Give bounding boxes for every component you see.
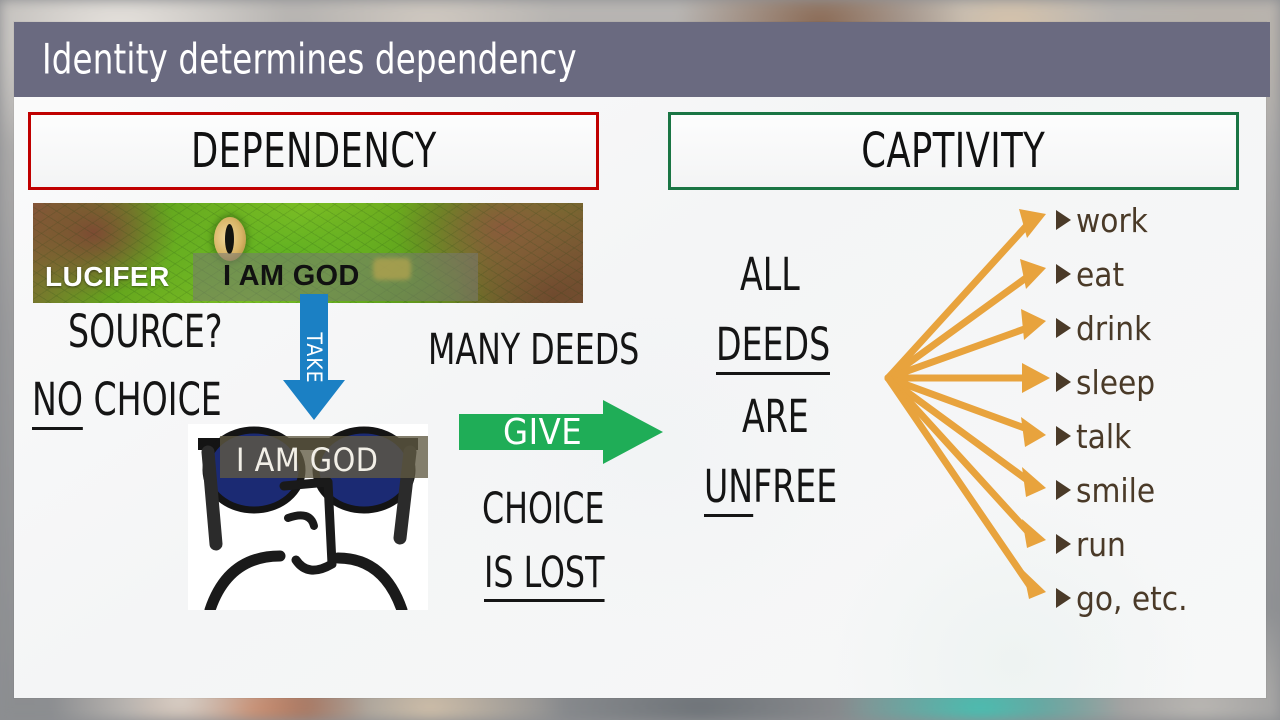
list-item[interactable]: eat [1056, 247, 1256, 301]
choice-text: CHOICE [482, 484, 631, 534]
unfree-rest: FREE [753, 460, 837, 513]
list-item-label: sleep [1076, 363, 1155, 402]
snake-i-am-god-label: I AM GOD [223, 260, 360, 293]
slide-root: Identity determines dependency DEPENDENC… [0, 0, 1280, 720]
unfree-text: UNFREE [704, 460, 867, 513]
triangle-bullet-icon [1056, 264, 1071, 284]
captivity-heading-box: CAPTIVITY [668, 112, 1239, 190]
list-item-label: smile [1076, 471, 1155, 510]
page-title: Identity determines dependency [42, 34, 664, 83]
is-lost-label: IS LOST [484, 548, 604, 602]
list-item[interactable]: drink [1056, 301, 1256, 355]
list-item-label: drink [1076, 309, 1151, 348]
page-title-text: Identity determines dependency [42, 34, 577, 83]
dependency-heading-label: DEPENDENCY [191, 123, 437, 179]
list-item-label: eat [1076, 255, 1124, 294]
give-arrow-label: GIVE [503, 412, 582, 453]
list-item-label: run [1076, 525, 1126, 564]
no-choice-underlined-part: NO [32, 373, 83, 430]
title-banner: Identity determines dependency [14, 22, 1270, 97]
list-item[interactable]: talk [1056, 409, 1256, 463]
triangle-bullet-icon [1056, 480, 1071, 500]
is-lost-text: IS LOST [484, 548, 631, 602]
are-text: ARE [742, 390, 823, 443]
figure-i-am-god-caption: I AM GOD [236, 441, 378, 479]
source-question-text: SOURCE? [68, 305, 256, 358]
triangle-bullet-icon [1056, 372, 1071, 392]
snake-image: LUCIFER I AM GOD [33, 203, 583, 303]
snake-pupil [225, 224, 234, 254]
list-item-label: work [1076, 201, 1148, 240]
list-item[interactable]: go, etc. [1056, 571, 1256, 625]
radiating-arrows-fan [880, 190, 1060, 610]
take-arrow-label: TAKE [302, 332, 326, 383]
list-item[interactable]: work [1056, 193, 1256, 247]
unfree-underlined-part: UN [704, 460, 753, 517]
are-label: ARE [742, 390, 809, 443]
triangle-bullet-icon [1056, 318, 1071, 338]
captivity-list: work eat drink sleep talk smile run go, [1056, 193, 1256, 625]
triangle-bullet-icon [1056, 588, 1071, 608]
list-item-label: go, etc. [1076, 579, 1188, 618]
dependency-heading-box: DEPENDENCY [28, 112, 599, 190]
figure-with-sunglasses: I AM GOD [188, 424, 428, 610]
give-arrow: GIVE [459, 400, 663, 464]
triangle-bullet-icon [1056, 426, 1071, 446]
list-item[interactable]: run [1056, 517, 1256, 571]
many-deeds-text: MANY DEEDS [428, 325, 686, 375]
all-label: ALL [740, 248, 800, 301]
list-item[interactable]: smile [1056, 463, 1256, 517]
choice-label: CHOICE [482, 484, 605, 534]
take-arrow: TAKE [283, 294, 345, 420]
no-choice-rest: CHOICE [83, 373, 222, 426]
deeds-label: DEEDS [716, 318, 830, 375]
all-text: ALL [740, 248, 813, 301]
triangle-bullet-icon [1056, 210, 1071, 230]
lucifer-label: LUCIFER [45, 261, 170, 293]
list-item-label: talk [1076, 417, 1131, 456]
list-item[interactable]: sleep [1056, 355, 1256, 409]
triangle-bullet-icon [1056, 534, 1071, 554]
deeds-text: DEEDS [716, 318, 855, 375]
source-question-label: SOURCE? [68, 305, 223, 358]
no-choice-text: NO CHOICE [32, 373, 263, 426]
captivity-heading-label: CAPTIVITY [862, 123, 1046, 179]
many-deeds-label: MANY DEEDS [428, 325, 639, 375]
fan-arrows-shape [880, 190, 1060, 610]
